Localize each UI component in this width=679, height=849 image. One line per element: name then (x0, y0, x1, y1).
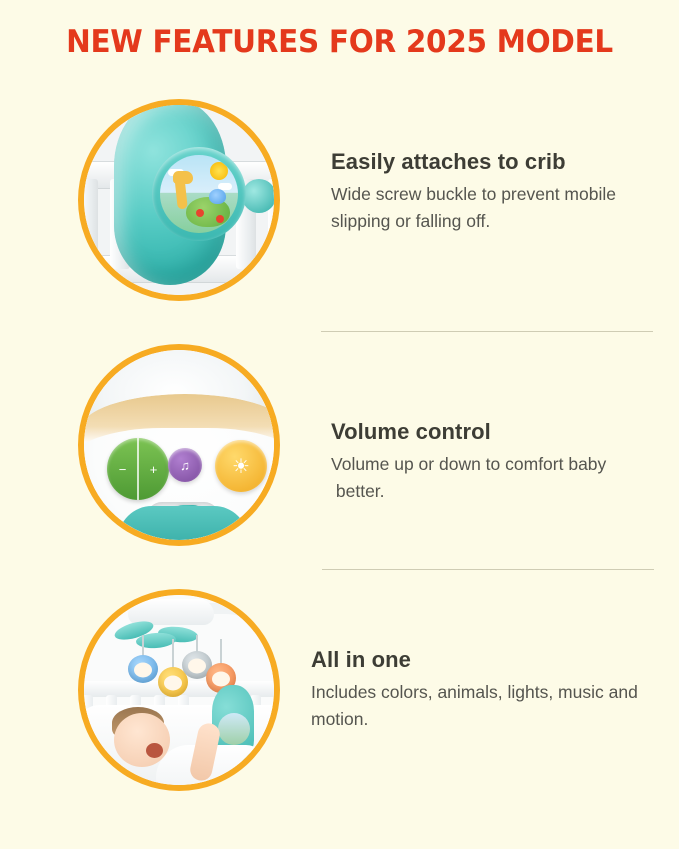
giraffe-head-icon (173, 171, 193, 184)
speaker-plus-icon: + (150, 462, 158, 477)
crib-slat (84, 179, 98, 269)
music-note-icon: ♫ (180, 458, 190, 473)
speaker-minus-icon: − (119, 462, 127, 477)
feature-highlight-page: NEW FEATURES FOR 2025 MODEL (0, 0, 679, 849)
clamp-body (114, 105, 226, 285)
feature-2-body: Volume up or down to comfort baby better… (331, 451, 671, 505)
apple-icon (196, 209, 204, 217)
decor-disc-artwork (160, 155, 238, 233)
volume-down-button[interactable]: − (107, 438, 138, 500)
crib-clamp-photo-inner (84, 105, 274, 295)
toy-string (220, 639, 222, 665)
feature-3-body: Includes colors, animals, lights, music … (311, 679, 651, 733)
feature-1-heading: Easily attaches to crib (331, 149, 671, 175)
baby-mouth (146, 743, 163, 758)
volume-up-button[interactable]: + (138, 438, 169, 500)
light-button[interactable]: ☀ (215, 440, 267, 492)
feature-3-text: All in one Includes colors, animals, lig… (311, 647, 651, 733)
lightbulb-icon: ☀ (232, 454, 250, 479)
baby-with-mobile-photo (78, 589, 280, 791)
feature-2-text: Volume control Volume up or down to comf… (331, 419, 671, 505)
feature-1-text: Easily attaches to crib Wide screw buckl… (331, 149, 671, 235)
screw-buckle (242, 179, 274, 213)
baby-with-mobile-photo-inner (84, 595, 274, 785)
music-button[interactable]: ♫ (168, 448, 202, 482)
toy-face (164, 675, 182, 690)
toy-string (172, 639, 174, 669)
decor-disc (152, 147, 246, 241)
volume-divider (137, 438, 139, 500)
page-title: NEW FEATURES FOR 2025 MODEL (17, 24, 662, 60)
mobile-teal-base (118, 506, 248, 540)
toy-face (134, 662, 152, 677)
volume-button-pair[interactable]: − + (107, 438, 169, 500)
mobile-decor-disc (218, 713, 250, 745)
feature-1-body: Wide screw buckle to prevent mobile slip… (331, 181, 671, 235)
baby-head (114, 713, 170, 767)
toy-face (188, 658, 206, 673)
sun-icon (210, 162, 228, 180)
toy-string (142, 635, 144, 657)
bird-icon (209, 189, 226, 204)
feature-3-heading: All in one (311, 647, 651, 673)
divider-1 (321, 331, 653, 332)
crib-clamp-photo (78, 99, 280, 301)
toy-bird (128, 655, 158, 683)
control-panel-photo: − + ♫ ☀ (78, 344, 280, 546)
control-panel-photo-inner: − + ♫ ☀ (84, 350, 274, 540)
toy-face (212, 671, 230, 686)
divider-2 (322, 569, 654, 570)
apple-icon (216, 215, 224, 223)
feature-2-heading: Volume control (331, 419, 671, 445)
